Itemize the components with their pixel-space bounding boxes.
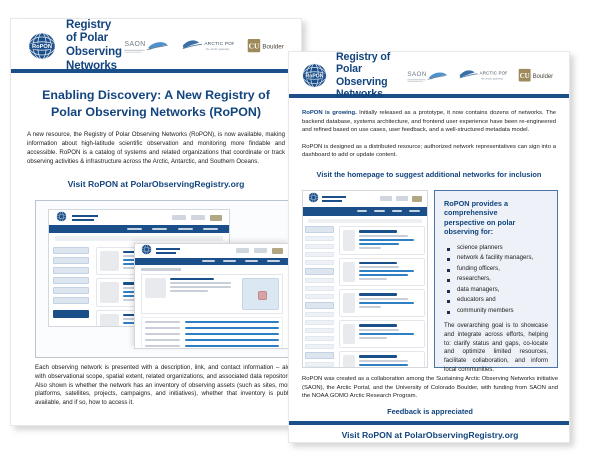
facet-option[interactable] bbox=[305, 312, 334, 317]
field-value bbox=[185, 339, 279, 341]
field-value bbox=[185, 327, 279, 329]
app-ropon-logo-icon bbox=[141, 243, 152, 260]
left-poster-cta-link[interactable]: Visit RoPON at PolarObservingRegistry.or… bbox=[27, 179, 285, 189]
right-poster-cta-top[interactable]: Visit the homepage to suggest additional… bbox=[302, 170, 556, 179]
nav-item[interactable] bbox=[409, 210, 419, 212]
app-partner-logos bbox=[172, 215, 222, 221]
app-partner-logos bbox=[380, 196, 422, 202]
result-link-line bbox=[359, 333, 414, 335]
facet-option[interactable] bbox=[305, 294, 334, 299]
svg-text:RoPON: RoPON bbox=[306, 73, 324, 79]
app-body bbox=[303, 223, 427, 368]
nav-item[interactable] bbox=[357, 210, 367, 212]
right-poster-cta-bottom[interactable]: Visit RoPON at PolarObservingRegistry.or… bbox=[302, 430, 558, 440]
facet-item[interactable] bbox=[53, 297, 89, 304]
result-link-line bbox=[359, 239, 414, 241]
bullet-item: educators and bbox=[444, 296, 548, 303]
poster-pair-canvas: RoPON Registry of Polar Observing Networ… bbox=[0, 0, 600, 467]
network-title-line bbox=[170, 278, 214, 281]
result-row[interactable] bbox=[339, 320, 425, 348]
left-poster: RoPON Registry of Polar Observing Networ… bbox=[10, 18, 302, 426]
result-text bbox=[359, 324, 420, 344]
result-title-line bbox=[359, 293, 397, 296]
facet-option[interactable] bbox=[305, 260, 334, 265]
nav-item[interactable] bbox=[202, 260, 215, 262]
svg-text:Boulder: Boulder bbox=[262, 44, 283, 51]
facet-filter-panel[interactable] bbox=[49, 241, 92, 327]
result-line bbox=[359, 329, 399, 331]
facet-option[interactable] bbox=[305, 252, 334, 257]
app-title-lines bbox=[322, 196, 346, 202]
result-thumbnail bbox=[343, 230, 355, 251]
field-label bbox=[145, 345, 180, 347]
facet-group-header[interactable] bbox=[305, 226, 334, 233]
result-row[interactable] bbox=[339, 351, 425, 368]
app-header bbox=[49, 210, 229, 225]
right-poster: RoPON Registry of Polar Observing Networ… bbox=[288, 51, 570, 443]
left-poster-screenshot bbox=[35, 200, 299, 358]
ropon-globe-icon: RoPON bbox=[27, 31, 57, 61]
result-line bbox=[359, 266, 399, 268]
right-poster-paragraph-2: RoPON is designed as a distributed resou… bbox=[302, 143, 556, 160]
facet-filter-panel[interactable] bbox=[303, 223, 336, 368]
nav-item[interactable] bbox=[127, 228, 142, 230]
result-thumbnail bbox=[100, 314, 119, 327]
result-row[interactable] bbox=[339, 289, 425, 317]
facet-item[interactable] bbox=[53, 277, 89, 284]
svg-text:the arctic gateway: the arctic gateway bbox=[481, 76, 504, 80]
result-text bbox=[359, 262, 420, 283]
result-line bbox=[359, 337, 387, 339]
network-logo-thumbnail bbox=[145, 278, 166, 298]
result-link-line bbox=[359, 270, 414, 272]
left-poster-title: Enabling Discovery: A New Registry of Po… bbox=[27, 87, 285, 120]
cu-boulder-logo: CU Boulder bbox=[518, 66, 560, 85]
facet-item[interactable] bbox=[53, 267, 89, 274]
right-poster-footer-rule bbox=[289, 421, 569, 425]
nav-item[interactable] bbox=[203, 228, 218, 230]
app-navbar[interactable] bbox=[303, 207, 427, 216]
facet-option[interactable] bbox=[305, 328, 334, 333]
result-title-line bbox=[359, 230, 397, 233]
left-poster-footer-text: Each observing network is presented with… bbox=[35, 364, 297, 408]
result-text bbox=[359, 230, 420, 251]
result-thumbnail bbox=[343, 293, 355, 313]
svg-text:CU: CU bbox=[520, 72, 530, 80]
field-label bbox=[145, 327, 180, 329]
svg-text:SAON: SAON bbox=[125, 41, 146, 48]
svg-text:CU: CU bbox=[249, 42, 260, 51]
nav-item[interactable] bbox=[392, 210, 402, 212]
result-line bbox=[359, 298, 408, 300]
app-ropon-logo-icon bbox=[308, 190, 319, 208]
bullet-item: funding officers, bbox=[444, 265, 548, 272]
detail-field-table bbox=[141, 317, 283, 349]
facet-item[interactable] bbox=[53, 247, 89, 254]
app-window-network-detail bbox=[134, 243, 290, 349]
facet-option[interactable] bbox=[305, 320, 334, 325]
result-row[interactable] bbox=[339, 258, 425, 287]
bullet-item: community members bbox=[444, 307, 548, 314]
result-line bbox=[359, 278, 387, 280]
svg-text:the arctic gateway: the arctic gateway bbox=[206, 47, 230, 51]
svg-text:SAON: SAON bbox=[407, 71, 426, 78]
nav-item[interactable] bbox=[223, 260, 236, 262]
ropon-globe-icon: RoPON bbox=[301, 62, 328, 89]
field-value bbox=[185, 333, 279, 335]
field-label bbox=[145, 339, 180, 341]
result-row[interactable] bbox=[339, 226, 425, 255]
result-thumbnail bbox=[100, 251, 119, 272]
field-label bbox=[145, 321, 180, 323]
bullet-item: researchers, bbox=[444, 275, 548, 282]
nav-item[interactable] bbox=[267, 260, 280, 262]
feedback-note: Feedback is appreciated bbox=[302, 407, 558, 416]
saon-logo: SAON bbox=[123, 34, 169, 58]
right-poster-header: RoPON Registry of Polar Observing Networ… bbox=[289, 52, 569, 94]
facet-option[interactable] bbox=[305, 344, 334, 349]
app-title-lines bbox=[72, 215, 98, 221]
nav-item[interactable] bbox=[178, 228, 193, 230]
arctic-portal-logo: ARCTIC PORTAL the arctic gateway bbox=[459, 66, 507, 85]
facet-option[interactable] bbox=[305, 336, 334, 341]
result-thumbnail bbox=[343, 355, 355, 368]
facet-group-header[interactable] bbox=[305, 352, 334, 359]
results-list bbox=[336, 223, 427, 368]
svg-text:Boulder: Boulder bbox=[533, 74, 553, 80]
breadcrumb[interactable] bbox=[141, 268, 181, 271]
saon-logo: SAON bbox=[406, 65, 448, 87]
result-title-line bbox=[359, 324, 397, 327]
paragraph-lead: RoPON is growing. bbox=[302, 110, 357, 116]
bullet-item: data managers, bbox=[444, 286, 548, 293]
callout-note: The overarching goal is to showcase and … bbox=[444, 322, 548, 375]
result-thumbnail bbox=[343, 324, 355, 344]
detail-line bbox=[170, 290, 207, 292]
result-text bbox=[359, 355, 420, 368]
result-line bbox=[359, 247, 380, 249]
nav-item[interactable] bbox=[245, 260, 258, 262]
result-thumbnail bbox=[343, 262, 355, 283]
nav-item[interactable] bbox=[152, 228, 167, 230]
result-text bbox=[359, 293, 420, 313]
app-navbar[interactable] bbox=[135, 258, 289, 265]
right-poster-header-rule bbox=[289, 94, 569, 98]
field-value bbox=[185, 321, 279, 323]
app-header bbox=[135, 244, 289, 258]
spatial-extent-map[interactable] bbox=[242, 278, 279, 310]
right-poster-credits: RoPON was created as a collaboration amo… bbox=[302, 375, 558, 401]
facet-option[interactable] bbox=[305, 286, 334, 291]
detail-summary-card bbox=[141, 274, 283, 314]
header-title: Registry of Polar Observing Networks bbox=[336, 51, 406, 101]
right-poster-screenshot bbox=[302, 190, 428, 368]
bullet-item: network & facility managers, bbox=[444, 254, 548, 261]
result-link-line bbox=[359, 243, 399, 245]
audience-callout: RoPON provides a comprehensive perspecti… bbox=[434, 190, 558, 368]
field-label bbox=[145, 333, 180, 335]
svg-text:RoPON: RoPON bbox=[32, 44, 52, 50]
result-link-line bbox=[359, 302, 414, 304]
result-thumbnail bbox=[100, 282, 119, 303]
facet-option[interactable] bbox=[305, 362, 334, 367]
right-poster-paragraph-1: RoPON is growing. Initially released as … bbox=[302, 109, 556, 135]
detail-line bbox=[170, 282, 231, 284]
result-line bbox=[359, 360, 408, 362]
facet-option[interactable] bbox=[305, 244, 334, 249]
header-partner-logos: SAON ARCTIC PORTAL the arctic gateway bbox=[123, 34, 291, 58]
result-title-line bbox=[359, 262, 397, 265]
facet-group-header[interactable] bbox=[305, 302, 334, 309]
left-poster-header: RoPON Registry of Polar Observing Networ… bbox=[11, 19, 301, 67]
callout-title: RoPON provides a comprehensive perspecti… bbox=[444, 199, 548, 237]
facet-group-header[interactable] bbox=[305, 268, 334, 275]
field-value bbox=[185, 345, 279, 347]
arctic-portal-logo: ARCTIC PORTAL the arctic gateway bbox=[182, 36, 234, 56]
detail-summary-text bbox=[170, 278, 238, 310]
result-line bbox=[359, 235, 408, 237]
facet-option[interactable] bbox=[305, 278, 334, 283]
svg-text:ARCTIC PORTAL: ARCTIC PORTAL bbox=[204, 41, 234, 47]
result-link-line bbox=[359, 274, 408, 276]
header-title: Registry of Polar Observing Networks bbox=[66, 19, 123, 73]
result-title-line bbox=[359, 355, 397, 358]
facet-item[interactable] bbox=[53, 257, 89, 264]
apply-filters-button[interactable] bbox=[53, 310, 89, 318]
detail-line bbox=[170, 286, 231, 288]
result-line bbox=[359, 306, 380, 308]
cu-boulder-logo: CU Boulder bbox=[247, 36, 291, 56]
app-partner-logos bbox=[236, 248, 283, 254]
bullet-item: science planners bbox=[444, 244, 548, 251]
app-title-lines bbox=[156, 248, 180, 254]
left-poster-intro: A new resource, the Registry of Polar Ob… bbox=[27, 131, 285, 166]
nav-item[interactable] bbox=[374, 210, 384, 212]
result-link-line bbox=[359, 364, 408, 366]
facet-option[interactable] bbox=[305, 236, 334, 241]
header-partner-logos: SAON ARCTIC PORTAL the arctic gateway bbox=[406, 65, 560, 87]
svg-text:ARCTIC PORTAL: ARCTIC PORTAL bbox=[480, 70, 507, 75]
app-ropon-logo-icon bbox=[56, 209, 67, 227]
map-extent-marker bbox=[258, 291, 266, 300]
app-header bbox=[303, 191, 427, 207]
facet-item[interactable] bbox=[53, 287, 89, 294]
audience-bullet-list: science planners network & facility mana… bbox=[444, 244, 548, 314]
app-navbar[interactable] bbox=[49, 225, 229, 233]
left-poster-header-rule bbox=[11, 69, 301, 73]
